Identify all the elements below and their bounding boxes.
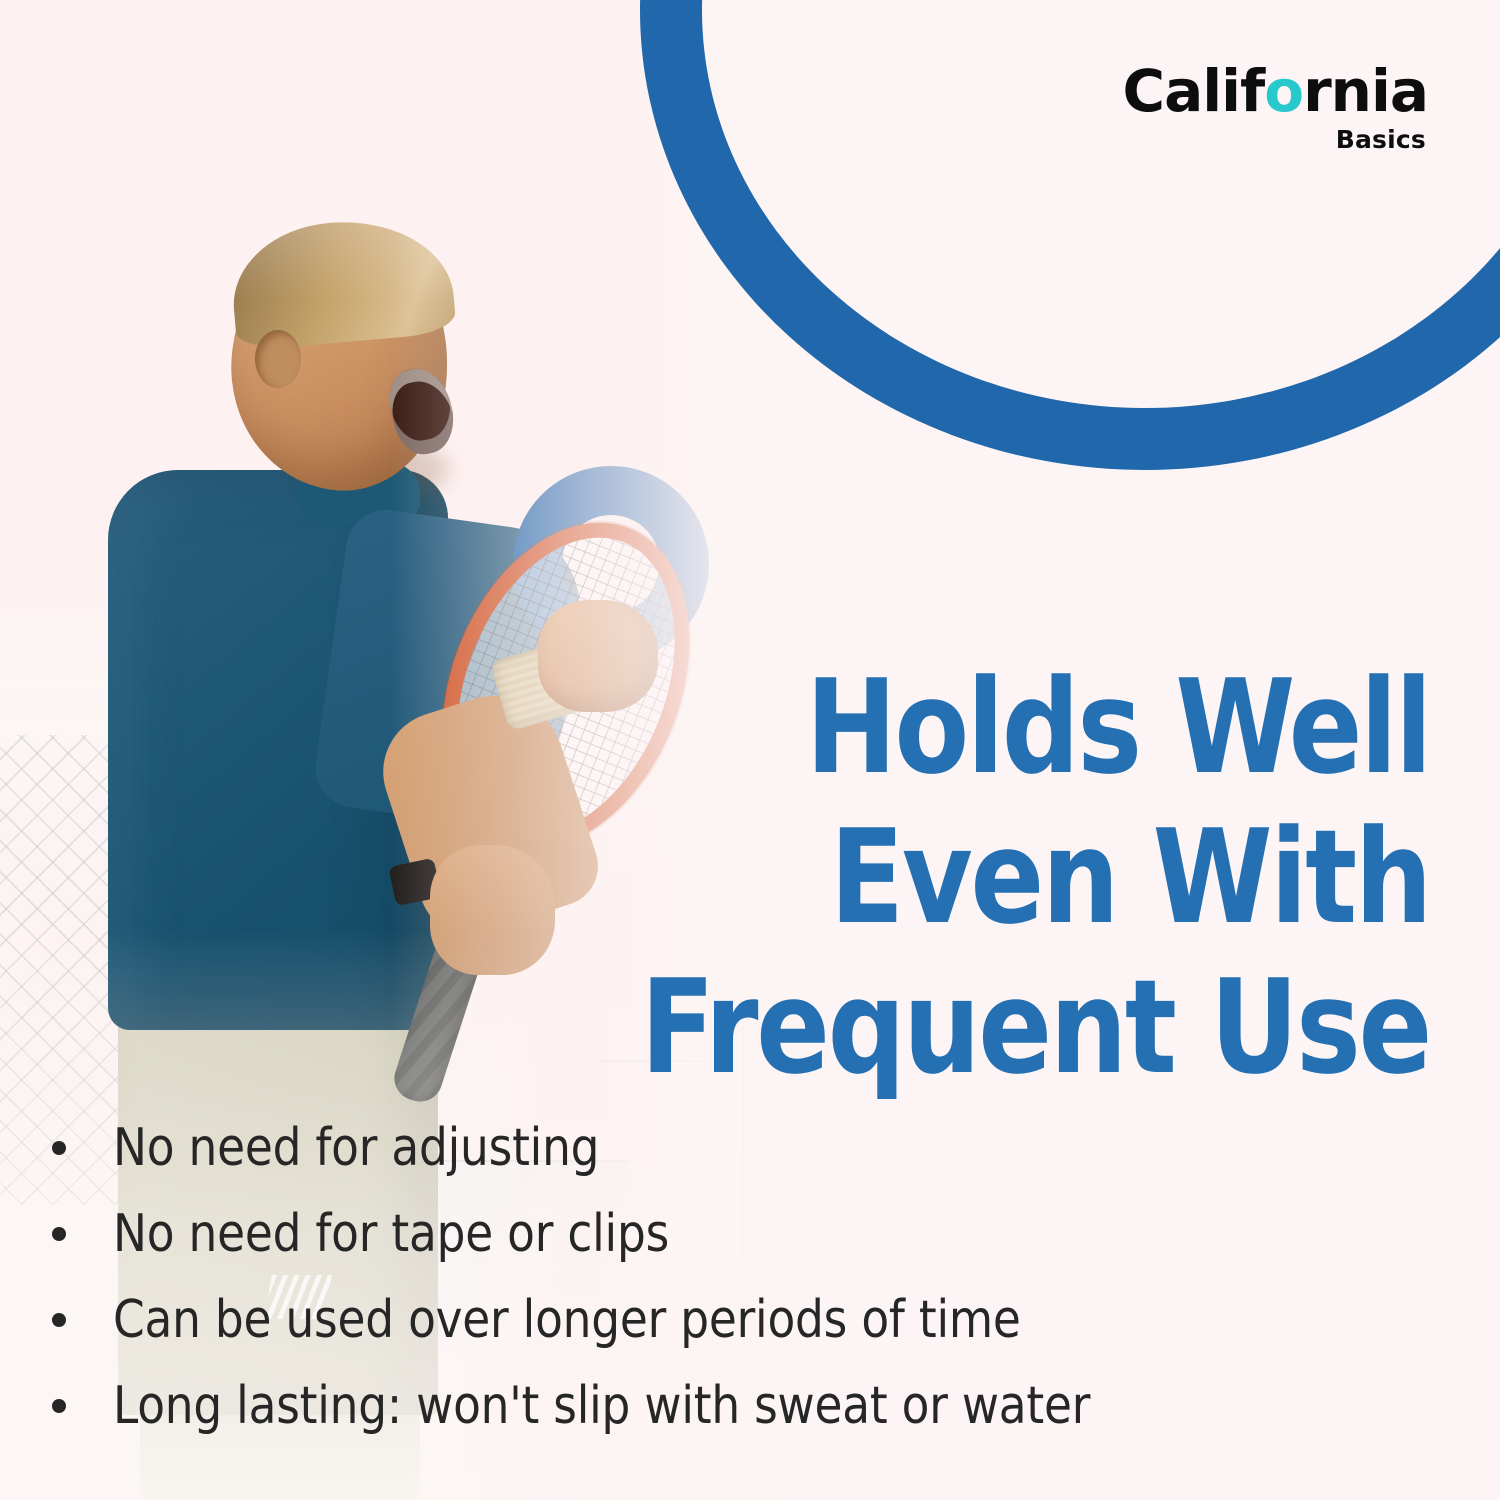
bullet-dot-icon: [52, 1313, 66, 1327]
headline-line-2: Even With: [593, 802, 1430, 952]
gripping-hand: [430, 845, 555, 975]
page-title: Holds Well Even With Frequent Use: [593, 652, 1430, 1102]
bullet-dot-icon: [52, 1227, 66, 1241]
list-item-label: Long lasting: won't slip with sweat or w…: [113, 1376, 1090, 1436]
bullet-dot-icon: [52, 1399, 66, 1413]
list-item: Can be used over longer periods of time: [52, 1290, 1452, 1376]
headline-line-3: Frequent Use: [593, 952, 1430, 1102]
list-item: Long lasting: won't slip with sweat or w…: [52, 1376, 1452, 1462]
product-feature-graphic: California Basics Holds Well Even With F…: [0, 0, 1500, 1500]
feature-list: No need for adjusting No need for tape o…: [52, 1118, 1452, 1462]
bullet-dot-icon: [52, 1141, 66, 1155]
headline-line-1: Holds Well: [593, 652, 1430, 802]
list-item-label: No need for adjusting: [113, 1118, 599, 1178]
brand-name-accent-letter: o: [1264, 57, 1303, 125]
list-item: No need for tape or clips: [52, 1204, 1452, 1290]
list-item-label: No need for tape or clips: [113, 1204, 669, 1264]
brand-name: California: [1123, 62, 1428, 120]
brand-name-part2: rnia: [1303, 57, 1428, 125]
list-item-label: Can be used over longer periods of time: [113, 1290, 1021, 1350]
list-item: No need for adjusting: [52, 1118, 1452, 1204]
brand-subtitle: Basics: [1123, 127, 1426, 152]
brand-name-part1: Calif: [1123, 57, 1265, 125]
brand-logo: California Basics: [1123, 62, 1428, 152]
